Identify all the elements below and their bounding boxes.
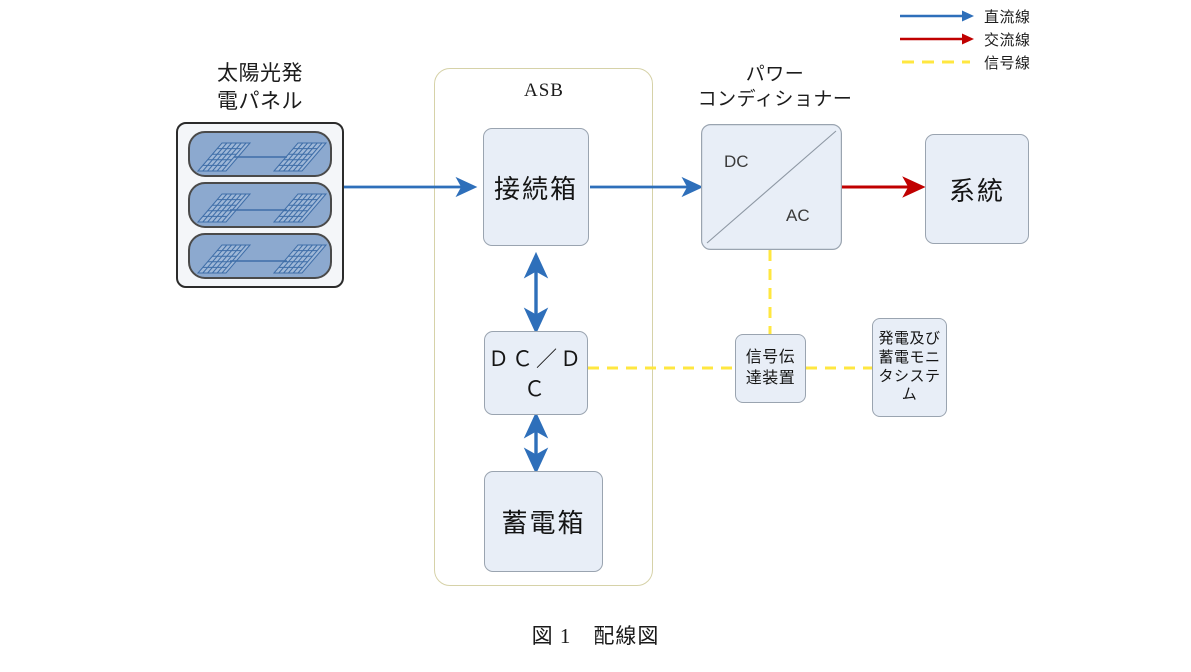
grid-box[interactable]: 系統 [925,134,1029,244]
power-conditioner-label: パワー コンディショナー [680,62,870,112]
monitor-system-box[interactable]: 発電及び 蓄電モニ タシステ ム [872,318,947,417]
figure-caption: 図 1 配線図 [0,620,1191,650]
junction-box[interactable]: 接続箱 [483,128,589,246]
dc-dc-converter-box[interactable]: ＤＣ／ＤＣ [484,331,588,415]
wiring-diagram-figure: 直流線 交流線 信号線 太陽光発 電パネル [0,0,1191,672]
signal-transmitter-box[interactable]: 信号伝 達装置 [735,334,806,403]
power-conditioner-box[interactable]: DC AC [701,124,842,250]
power-conditioner-dc-label: DC [724,152,749,172]
power-conditioner-ac-label: AC [786,206,810,226]
battery-box[interactable]: 蓄電箱 [484,471,603,572]
